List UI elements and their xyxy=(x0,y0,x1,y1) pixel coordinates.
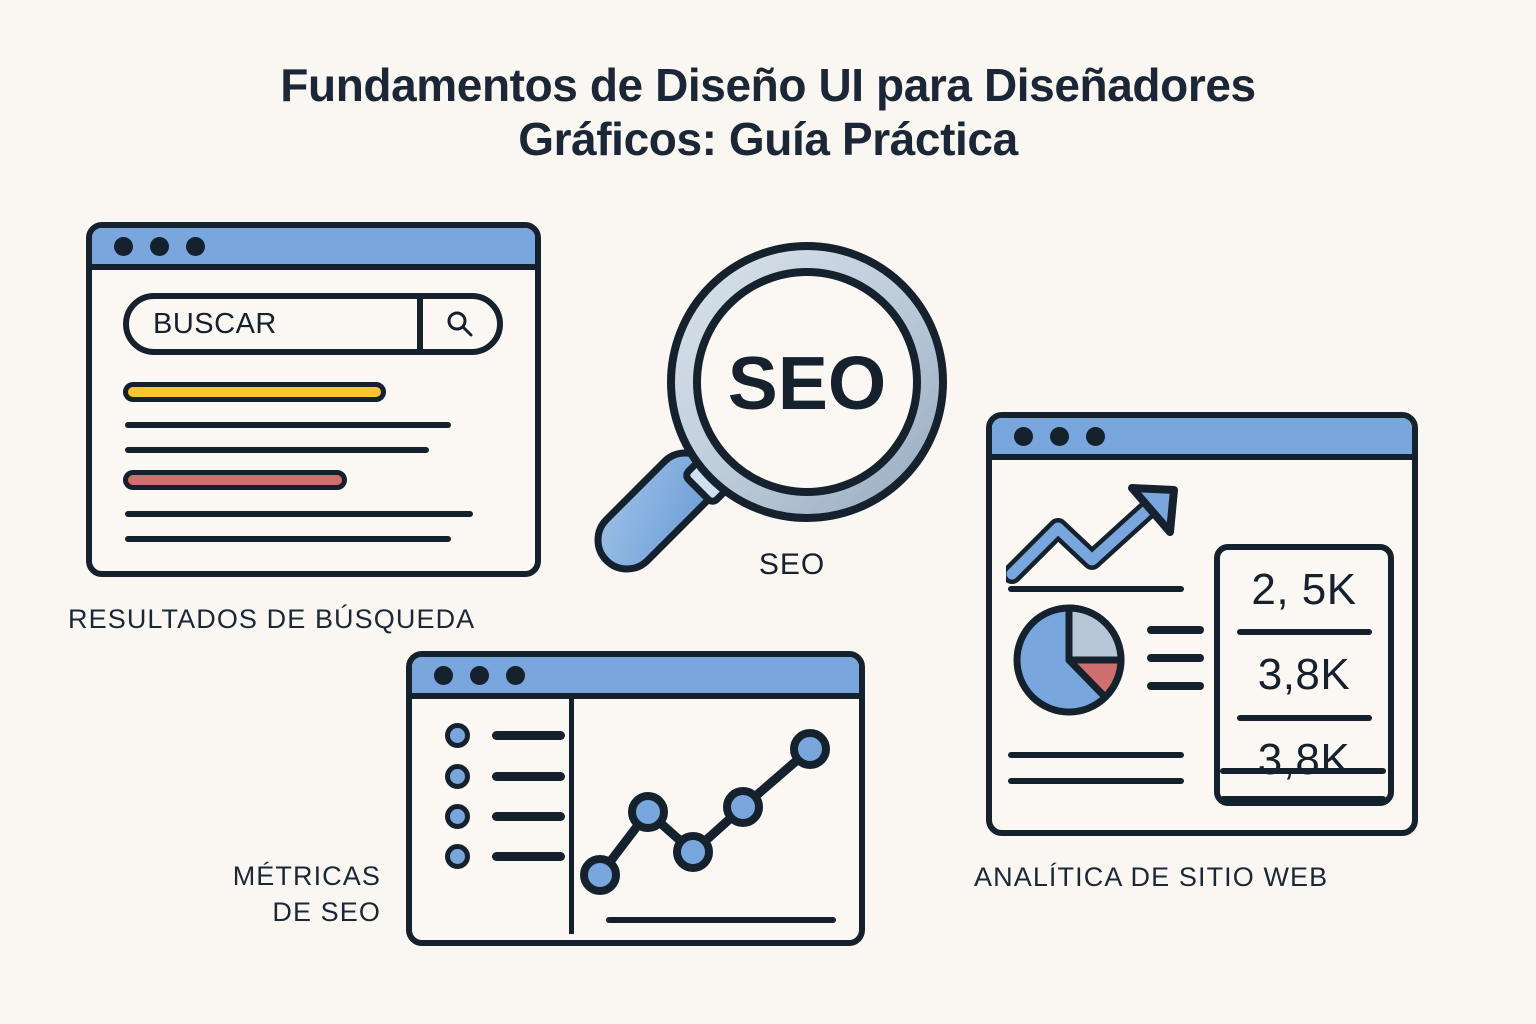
stat-divider xyxy=(1237,715,1372,721)
pie-legend-item xyxy=(1147,626,1204,634)
seo-metrics-caption-line-2: DE SEO xyxy=(272,897,381,927)
chart-point[interactable] xyxy=(677,836,709,868)
bullet-icon xyxy=(445,844,470,869)
search-results-body: BUSCAR xyxy=(92,270,535,565)
search-bar[interactable]: BUSCAR xyxy=(123,293,503,355)
traffic-light-minimize-icon[interactable] xyxy=(1050,427,1069,446)
analytics-footer-line xyxy=(1008,752,1184,758)
chart-point[interactable] xyxy=(794,733,826,765)
search-button[interactable] xyxy=(423,309,497,339)
chart-point[interactable] xyxy=(632,796,664,828)
seo-metrics-caption: MÉTRICAS DE SEO xyxy=(198,858,381,931)
seo-metrics-line-chart xyxy=(578,707,863,902)
traffic-light-close-icon[interactable] xyxy=(1014,427,1033,446)
analytics-footer-line xyxy=(1220,796,1386,802)
website-analytics-window[interactable]: 2, 5K 3,8K 3,8K xyxy=(986,412,1418,836)
pie-legend-item xyxy=(1147,654,1204,662)
analytics-footer-line xyxy=(1220,768,1386,774)
stat-value: 3,8K xyxy=(1258,738,1351,782)
traffic-light-close-icon[interactable] xyxy=(114,237,133,256)
bullet-icon xyxy=(445,764,470,789)
search-result-highlight-yellow[interactable] xyxy=(123,382,386,402)
list-item-label xyxy=(492,852,565,861)
seo-magnifier-graphic: SEO xyxy=(592,222,992,597)
chart-point[interactable] xyxy=(727,791,759,823)
stats-card: 2, 5K 3,8K 3,8K xyxy=(1214,544,1394,806)
search-input[interactable]: BUSCAR xyxy=(129,308,417,341)
seo-caption: SEO xyxy=(592,548,992,582)
website-analytics-body: 2, 5K 3,8K 3,8K xyxy=(992,460,1412,824)
illustration-canvas: Fundamentos de Diseño UI para Diseñadore… xyxy=(0,0,1536,1024)
magnifier-icon: SEO xyxy=(592,222,992,597)
chart-point[interactable] xyxy=(584,859,616,891)
search-result-highlight-red[interactable] xyxy=(123,470,347,490)
analytics-footer-line xyxy=(1008,778,1184,784)
seo-metrics-caption-line-1: MÉTRICAS xyxy=(233,861,381,891)
traffic-light-maximize-icon[interactable] xyxy=(1086,427,1105,446)
metrics-footer-line xyxy=(606,917,836,923)
traffic-light-minimize-icon[interactable] xyxy=(150,237,169,256)
window-titlebar xyxy=(92,228,535,270)
list-item[interactable] xyxy=(445,844,565,869)
traffic-light-maximize-icon[interactable] xyxy=(186,237,205,256)
seo-metrics-body xyxy=(412,699,859,934)
search-results-window[interactable]: BUSCAR xyxy=(86,222,541,577)
list-item-label xyxy=(492,731,565,740)
window-titlebar xyxy=(992,418,1412,460)
stat-divider xyxy=(1237,629,1372,635)
pie-slice-secondary[interactable] xyxy=(1069,608,1121,660)
pie-legend-item xyxy=(1147,682,1204,690)
window-titlebar xyxy=(412,657,859,699)
website-analytics-caption: ANALÍTICA DE SITIO WEB xyxy=(974,859,1328,895)
analytics-divider-line xyxy=(1008,586,1184,592)
search-result-line xyxy=(125,422,451,428)
page-title-line-2: Gráficos: Guía Práctica xyxy=(0,112,1536,166)
page-title-line-1: Fundamentos de Diseño UI para Diseñadore… xyxy=(280,59,1255,111)
panel-divider xyxy=(569,699,574,934)
search-result-line xyxy=(125,447,429,453)
seo-metrics-window[interactable] xyxy=(406,651,865,946)
list-item-label xyxy=(492,812,565,821)
list-item[interactable] xyxy=(445,764,565,789)
search-results-caption: RESULTADOS DE BÚSQUEDA xyxy=(68,601,475,637)
magnifier-lens-label: SEO xyxy=(728,341,886,425)
pie-chart-icon xyxy=(1009,600,1129,720)
search-icon xyxy=(445,309,475,339)
search-result-line xyxy=(125,536,451,542)
stat-value: 2, 5K xyxy=(1251,568,1356,612)
bullet-icon xyxy=(445,723,470,748)
traffic-light-maximize-icon[interactable] xyxy=(506,666,525,685)
search-result-line xyxy=(125,511,473,517)
bullet-icon xyxy=(445,804,470,829)
page-title: Fundamentos de Diseño UI para Diseñadore… xyxy=(0,58,1536,167)
stat-value: 3,8K xyxy=(1258,653,1351,697)
traffic-light-close-icon[interactable] xyxy=(434,666,453,685)
list-item[interactable] xyxy=(445,804,565,829)
list-item-label xyxy=(492,772,565,781)
traffic-light-minimize-icon[interactable] xyxy=(470,666,489,685)
list-item[interactable] xyxy=(445,723,565,748)
upward-trend-arrow-icon xyxy=(1006,478,1216,588)
